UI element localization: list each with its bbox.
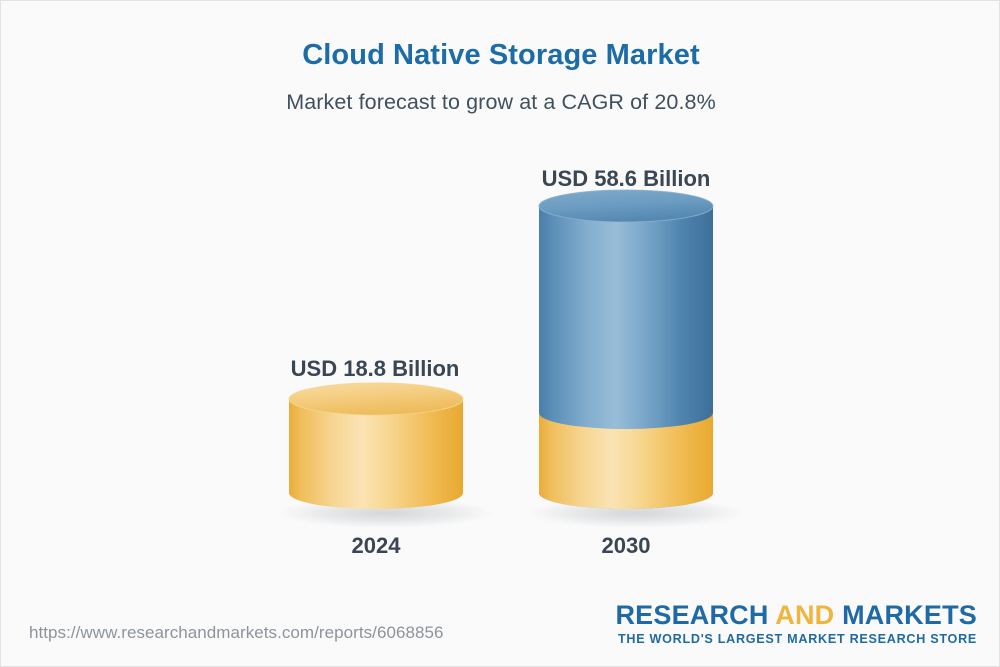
category-label-2024: 2024 bbox=[286, 533, 466, 559]
brand-logo-wordmark: RESEARCH AND MARKETS bbox=[615, 601, 977, 629]
category-label-2030: 2030 bbox=[536, 533, 716, 559]
brand-logo-and: AND bbox=[775, 600, 834, 630]
cylinder-bar-chart bbox=[1, 1, 1000, 601]
brand-logo-research: RESEARCH bbox=[615, 600, 768, 630]
source-url[interactable]: https://www.researchandmarkets.com/repor… bbox=[29, 623, 443, 643]
bar-cylinder-2030[interactable] bbox=[539, 190, 713, 509]
data-label-2024: USD 18.8 Billion bbox=[260, 356, 490, 382]
brand-logo-tagline: THE WORLD'S LARGEST MARKET RESEARCH STOR… bbox=[615, 632, 977, 647]
chart-plot-area bbox=[1, 1, 1000, 601]
brand-logo-markets: MARKETS bbox=[842, 600, 977, 630]
data-label-2030: USD 58.6 Billion bbox=[511, 166, 741, 192]
infographic-canvas: Cloud Native Storage Market Market forec… bbox=[0, 0, 1000, 667]
brand-logo[interactable]: RESEARCH AND MARKETS THE WORLD'S LARGEST… bbox=[615, 601, 977, 647]
bar-cylinder-2024[interactable] bbox=[289, 383, 463, 509]
